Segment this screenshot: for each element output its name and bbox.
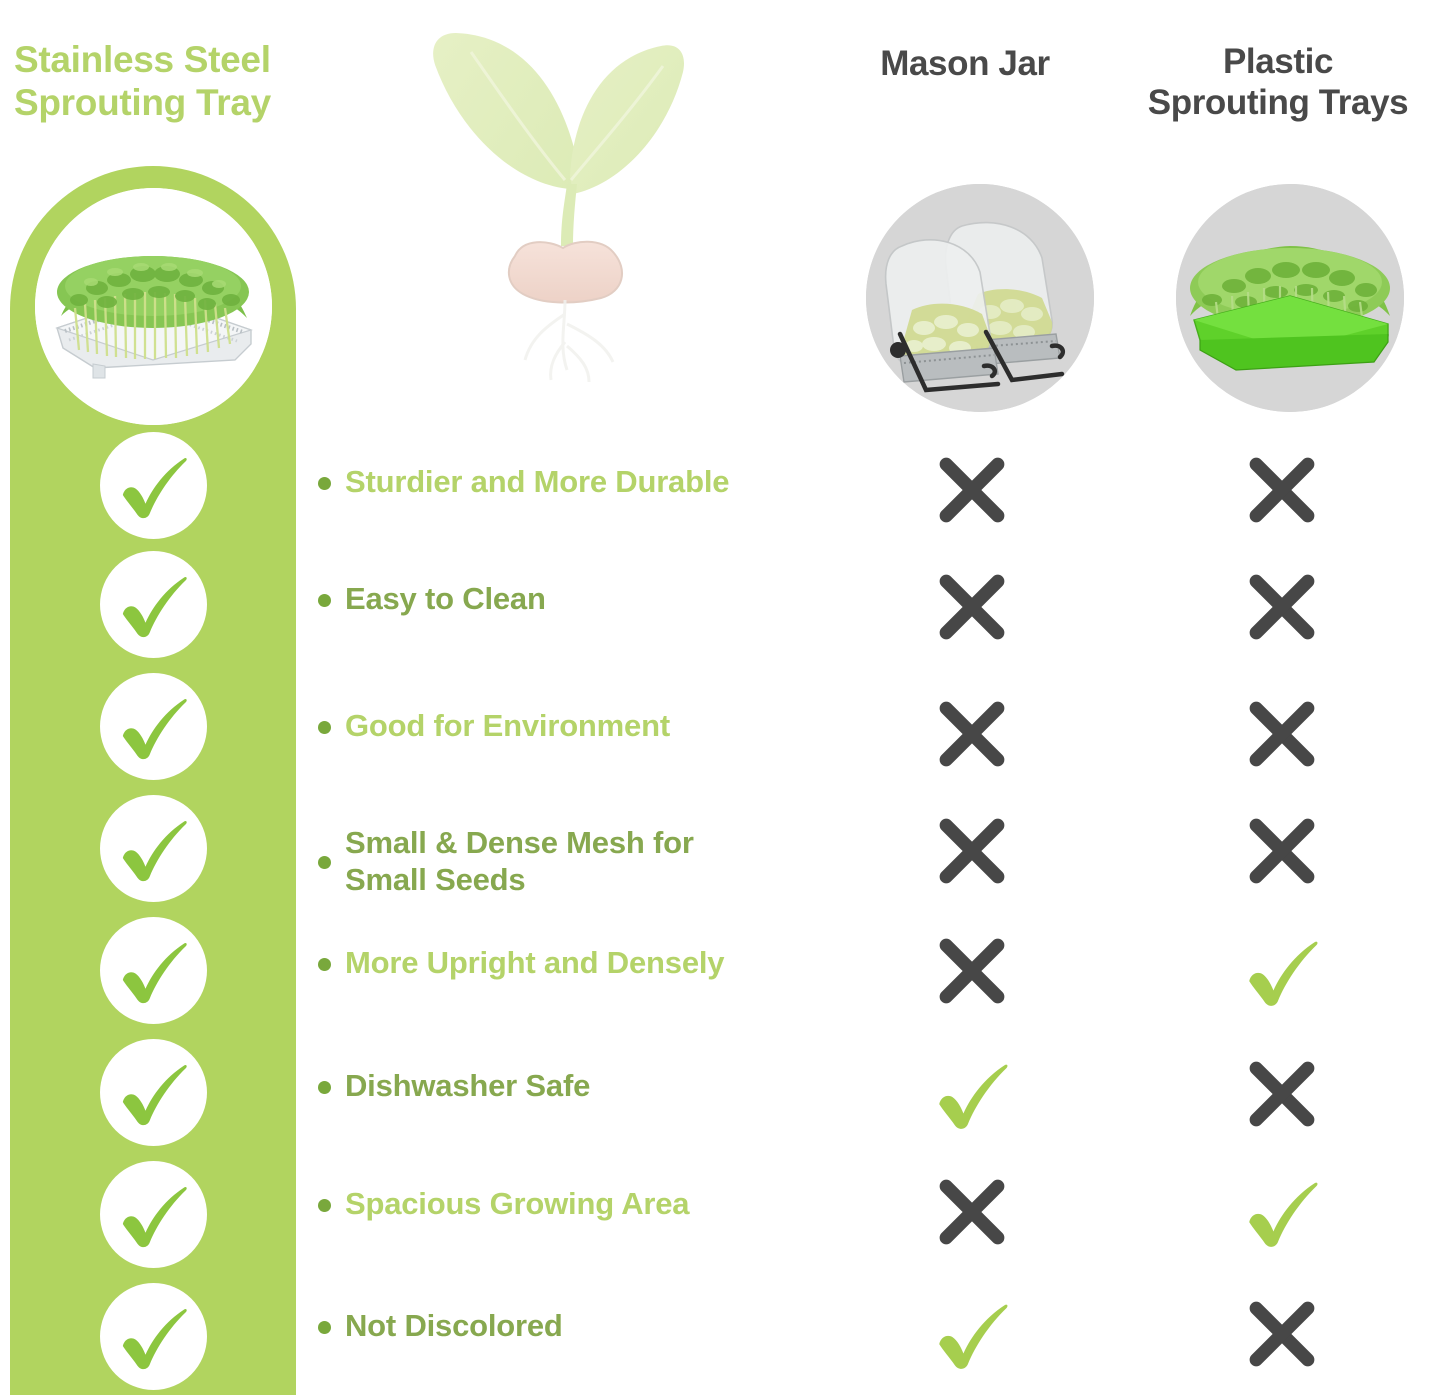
comparison-infographic: Stainless Steel Sprouting Tray Mason Jar… [0, 0, 1445, 1395]
stainless-check-circle-row-6 [100, 1039, 207, 1146]
feature-row: Good for Environment [318, 708, 878, 745]
cross-mark-icon-mason-jar-row-5 [933, 932, 1011, 1010]
stainless-check-circle-row-1 [100, 432, 207, 539]
feature-label-line: Small & Dense Mesh for [345, 825, 694, 862]
feature-row: More Upright and Densely [318, 945, 878, 982]
column-header-mason-jar-line-1: Mason Jar [790, 44, 1140, 85]
feature-label: Sturdier and More Durable [345, 464, 729, 501]
feature-row: Easy to Clean [318, 581, 878, 618]
bullet-dot-icon [318, 721, 331, 734]
stainless-check-circle-row-7 [100, 1161, 207, 1268]
feature-row: Sturdier and More Durable [318, 464, 878, 501]
cross-mark-icon-mason-jar-row-3 [933, 695, 1011, 773]
cross-mark-icon-plastic-tray-row-4 [1243, 812, 1321, 890]
bullet-dot-icon [318, 958, 331, 971]
page-title: Stainless Steel Sprouting Tray [14, 38, 344, 125]
bullet-dot-icon [318, 1199, 331, 1212]
check-mark-icon [100, 551, 207, 658]
cross-mark-icon-plastic-tray-row-3 [1243, 695, 1321, 773]
feature-label: Small & Dense Mesh forSmall Seeds [345, 825, 694, 898]
cross-mark-icon-plastic-tray-row-6 [1243, 1055, 1321, 1133]
bullet-dot-icon [318, 594, 331, 607]
feature-label: Easy to Clean [345, 581, 546, 618]
check-mark-icon [100, 673, 207, 780]
cross-mark-icon-plastic-tray-row-2 [1243, 568, 1321, 646]
column-header-plastic-line-2: Sprouting Trays [1118, 83, 1438, 124]
product-title-line-2: Sprouting Tray [14, 81, 344, 124]
cross-mark-icon-mason-jar-row-7 [933, 1173, 1011, 1251]
feature-label: Dishwasher Safe [345, 1068, 590, 1105]
feature-row: Spacious Growing Area [318, 1186, 878, 1223]
product-title-line-1: Stainless Steel [14, 38, 344, 81]
stainless-check-circle-row-4 [100, 795, 207, 902]
check-mark-icon [100, 1039, 207, 1146]
cross-mark-icon-mason-jar-row-1 [933, 451, 1011, 529]
feature-label-line: Dishwasher Safe [345, 1068, 590, 1105]
column-header-mason-jar: Mason Jar [790, 44, 1140, 85]
check-mark-icon-mason-jar-row-8 [933, 1295, 1011, 1373]
plastic-tray-image [1176, 184, 1404, 412]
feature-label: Spacious Growing Area [345, 1186, 689, 1223]
feature-row: Dishwasher Safe [318, 1068, 878, 1105]
stainless-check-circle-row-5 [100, 917, 207, 1024]
cross-mark-icon-plastic-tray-row-1 [1243, 451, 1321, 529]
stainless-check-circle-row-2 [100, 551, 207, 658]
feature-row: Small & Dense Mesh forSmall Seeds [318, 825, 878, 898]
bullet-dot-icon [318, 477, 331, 490]
column-header-plastic-line-1: Plastic [1118, 42, 1438, 83]
stainless-check-circle-row-3 [100, 673, 207, 780]
hero-product-image [35, 188, 272, 425]
feature-label-line: Easy to Clean [345, 581, 546, 618]
check-mark-icon [100, 917, 207, 1024]
column-header-plastic-sprouting-trays: Plastic Sprouting Trays [1118, 42, 1438, 123]
cross-mark-icon-mason-jar-row-4 [933, 812, 1011, 890]
check-mark-icon [100, 795, 207, 902]
feature-label-line: More Upright and Densely [345, 945, 724, 982]
stainless-check-circle-row-8 [100, 1283, 207, 1390]
check-mark-icon-plastic-tray-row-7 [1243, 1173, 1321, 1251]
feature-label-line: Spacious Growing Area [345, 1186, 689, 1223]
cross-mark-icon-plastic-tray-row-8 [1243, 1295, 1321, 1373]
bullet-dot-icon [318, 1321, 331, 1334]
bullet-dot-icon [318, 856, 331, 869]
feature-row: Not Discolored [318, 1308, 878, 1345]
feature-label-line: Sturdier and More Durable [345, 464, 729, 501]
mason-jar-image [866, 184, 1094, 412]
feature-label: More Upright and Densely [345, 945, 724, 982]
check-mark-icon-plastic-tray-row-5 [1243, 932, 1321, 1010]
feature-label-line: Not Discolored [345, 1308, 563, 1345]
feature-label-line: Good for Environment [345, 708, 670, 745]
check-mark-icon [100, 1283, 207, 1390]
cross-mark-icon-mason-jar-row-2 [933, 568, 1011, 646]
check-mark-icon [100, 1161, 207, 1268]
feature-label: Not Discolored [345, 1308, 563, 1345]
bullet-dot-icon [318, 1081, 331, 1094]
check-mark-icon-mason-jar-row-6 [933, 1055, 1011, 1133]
check-mark-icon [100, 432, 207, 539]
feature-label-line: Small Seeds [345, 862, 694, 899]
sprout-seedling-icon [415, 0, 735, 414]
feature-label: Good for Environment [345, 708, 670, 745]
